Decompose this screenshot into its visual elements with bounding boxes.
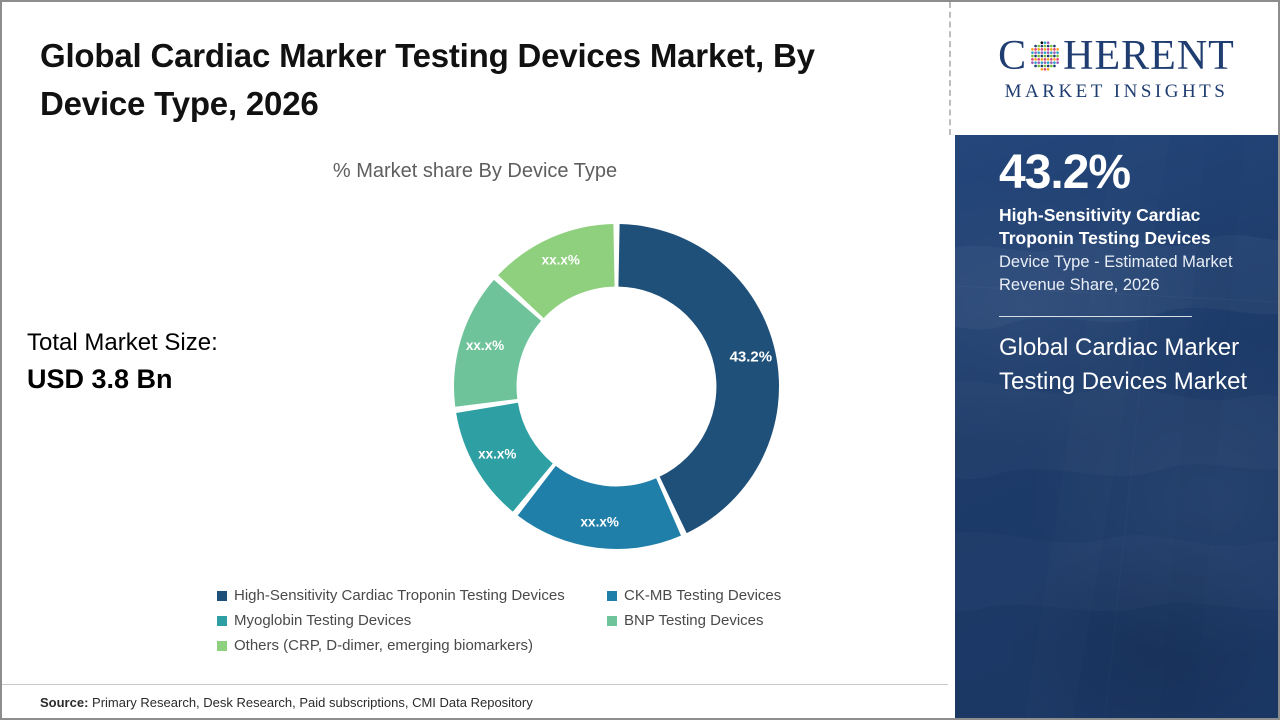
legend-label: Others (CRP, D-dimer, emerging biomarker… <box>234 638 533 653</box>
globe-dot <box>1044 48 1047 51</box>
globe-dot <box>1056 54 1059 57</box>
globe-dot <box>1047 44 1050 47</box>
globe-dot <box>1044 51 1047 54</box>
page-title: Global Cardiac Marker Testing Devices Ma… <box>40 32 900 128</box>
legend-row: Myoglobin Testing Devices BNP Testing De… <box>217 613 837 628</box>
globe-dot <box>1034 48 1037 51</box>
donut-slice[interactable] <box>518 466 681 549</box>
globe-dot <box>1041 48 1044 51</box>
legend-label: CK-MB Testing Devices <box>624 588 781 603</box>
globe-dot <box>1047 41 1050 44</box>
globe-dot <box>1041 64 1044 67</box>
globe-dot <box>1038 48 1041 51</box>
globe-dot <box>1044 64 1047 67</box>
panel-divider <box>949 2 951 135</box>
footer-divider <box>2 684 948 685</box>
total-market-size-label: Total Market Size: <box>27 324 327 361</box>
globe-dot <box>1044 67 1047 70</box>
globe-dot <box>1038 57 1041 60</box>
globe-dot <box>1034 57 1037 60</box>
globe-dot <box>1034 51 1037 54</box>
legend-item-myoglobin[interactable]: Myoglobin Testing Devices <box>217 613 607 628</box>
globe-dot <box>1041 61 1044 64</box>
donut-slice-label: xx.x% <box>581 515 619 530</box>
globe-dot <box>1056 51 1059 54</box>
globe-dot <box>1031 48 1034 51</box>
donut-slices <box>454 224 779 549</box>
globe-dot <box>1047 51 1050 54</box>
legend-row: Others (CRP, D-dimer, emerging biomarker… <box>217 638 837 653</box>
globe-dot <box>1050 54 1053 57</box>
legend-swatch-icon <box>607 616 617 626</box>
legend-label: BNP Testing Devices <box>624 613 764 628</box>
stat-headline: High-Sensitivity Cardiac Troponin Testin… <box>999 204 1249 250</box>
globe-dot <box>1034 54 1037 57</box>
legend-label: High-Sensitivity Cardiac Troponin Testin… <box>234 588 565 603</box>
source-text: Primary Research, Desk Research, Paid su… <box>88 695 532 710</box>
globe-dot <box>1038 44 1041 47</box>
dotted-globe-icon <box>1028 39 1062 73</box>
total-market-size-value: USD 3.8 Bn <box>27 361 327 397</box>
donut-slice-label: xx.x% <box>466 338 504 353</box>
globe-dot <box>1050 51 1053 54</box>
globe-dot <box>1031 54 1034 57</box>
donut-slice-label: 43.2% <box>730 348 773 365</box>
globe-dot <box>1053 61 1056 64</box>
globe-dot <box>1056 48 1059 51</box>
globe-dot <box>1034 44 1037 47</box>
stat-market-name: Global Cardiac Marker Testing Devices Ma… <box>999 331 1249 399</box>
chart-subtitle: % Market share By Device Type <box>2 160 948 183</box>
legend-row: High-Sensitivity Cardiac Troponin Testin… <box>217 588 837 603</box>
globe-dot <box>1031 61 1034 64</box>
globe-dot <box>1053 51 1056 54</box>
globe-dot <box>1034 61 1037 64</box>
globe-dot <box>1038 54 1041 57</box>
stat-subtext: Device Type - Estimated Market Revenue S… <box>999 251 1249 298</box>
globe-dot <box>1038 64 1041 67</box>
total-market-size-block: Total Market Size: USD 3.8 Bn <box>27 324 327 398</box>
globe-dot <box>1031 57 1034 60</box>
globe-dot <box>1053 64 1056 67</box>
globe-dot <box>1031 51 1034 54</box>
legend-item-bnp[interactable]: BNP Testing Devices <box>607 613 764 628</box>
globe-dot <box>1047 54 1050 57</box>
globe-dot <box>1044 44 1047 47</box>
legend-swatch-icon <box>607 591 617 601</box>
globe-dot <box>1044 41 1047 44</box>
globe-dot <box>1034 64 1037 67</box>
donut-slice-label: xx.x% <box>478 447 516 462</box>
globe-dot <box>1053 57 1056 60</box>
donut-chart: 43.2%xx.x%xx.x%xx.x%xx.x% <box>454 224 779 549</box>
globe-dot <box>1050 48 1053 51</box>
globe-dot <box>1047 48 1050 51</box>
source-line: Source: Primary Research, Desk Research,… <box>40 695 533 710</box>
legend-swatch-icon <box>217 616 227 626</box>
legend-item-ckmb[interactable]: CK-MB Testing Devices <box>607 588 781 603</box>
globe-dot <box>1041 57 1044 60</box>
globe-dot <box>1050 61 1053 64</box>
globe-dot <box>1050 64 1053 67</box>
globe-dot <box>1047 57 1050 60</box>
logo-text-herent: HERENT <box>1063 35 1235 77</box>
donut-chart-svg: 43.2%xx.x%xx.x%xx.x%xx.x% <box>454 224 779 549</box>
globe-dot <box>1044 57 1047 60</box>
logo-letter-c: C <box>998 35 1027 77</box>
globe-dot <box>1044 54 1047 57</box>
legend-swatch-icon <box>217 641 227 651</box>
highlight-stat-panel: 43.2% High-Sensitivity Cardiac Troponin … <box>955 135 1278 718</box>
legend-label: Myoglobin Testing Devices <box>234 613 411 628</box>
chart-panel: Global Cardiac Marker Testing Devices Ma… <box>2 2 948 718</box>
globe-dot <box>1053 48 1056 51</box>
globe-dot <box>1047 67 1050 70</box>
globe-dot <box>1047 64 1050 67</box>
globe-dot <box>1041 41 1044 44</box>
logo-wordmark: C HERENT <box>998 35 1235 77</box>
globe-dot <box>1044 61 1047 64</box>
globe-dot <box>1038 51 1041 54</box>
legend-item-hs-troponin[interactable]: High-Sensitivity Cardiac Troponin Testin… <box>217 588 607 603</box>
globe-dot <box>1047 61 1050 64</box>
globe-dot <box>1041 67 1044 70</box>
globe-dot <box>1038 61 1041 64</box>
logo-tagline: MARKET INSIGHTS <box>1005 81 1229 103</box>
globe-dot <box>1041 54 1044 57</box>
globe-dot <box>1053 44 1056 47</box>
chart-legend: High-Sensitivity Cardiac Troponin Testin… <box>217 588 837 663</box>
globe-dot <box>1056 57 1059 60</box>
globe-dot <box>1056 61 1059 64</box>
globe-dot <box>1041 44 1044 47</box>
stat-content: 43.2% High-Sensitivity Cardiac Troponin … <box>999 147 1249 399</box>
globe-dot <box>1053 54 1056 57</box>
donut-slice-label: xx.x% <box>542 252 580 267</box>
legend-item-others[interactable]: Others (CRP, D-dimer, emerging biomarker… <box>217 638 607 653</box>
brand-logo: C HERENT MARKET INSIGHTS <box>955 2 1278 135</box>
side-panel: C HERENT MARKET INSIGHTS 43.2% High-Sens… <box>955 2 1278 718</box>
globe-dot <box>1050 44 1053 47</box>
source-label: Source: <box>40 695 88 710</box>
legend-swatch-icon <box>217 591 227 601</box>
stat-percent-value: 43.2% <box>999 147 1249 200</box>
stat-divider <box>999 316 1192 317</box>
globe-dot <box>1041 51 1044 54</box>
globe-dot <box>1050 57 1053 60</box>
